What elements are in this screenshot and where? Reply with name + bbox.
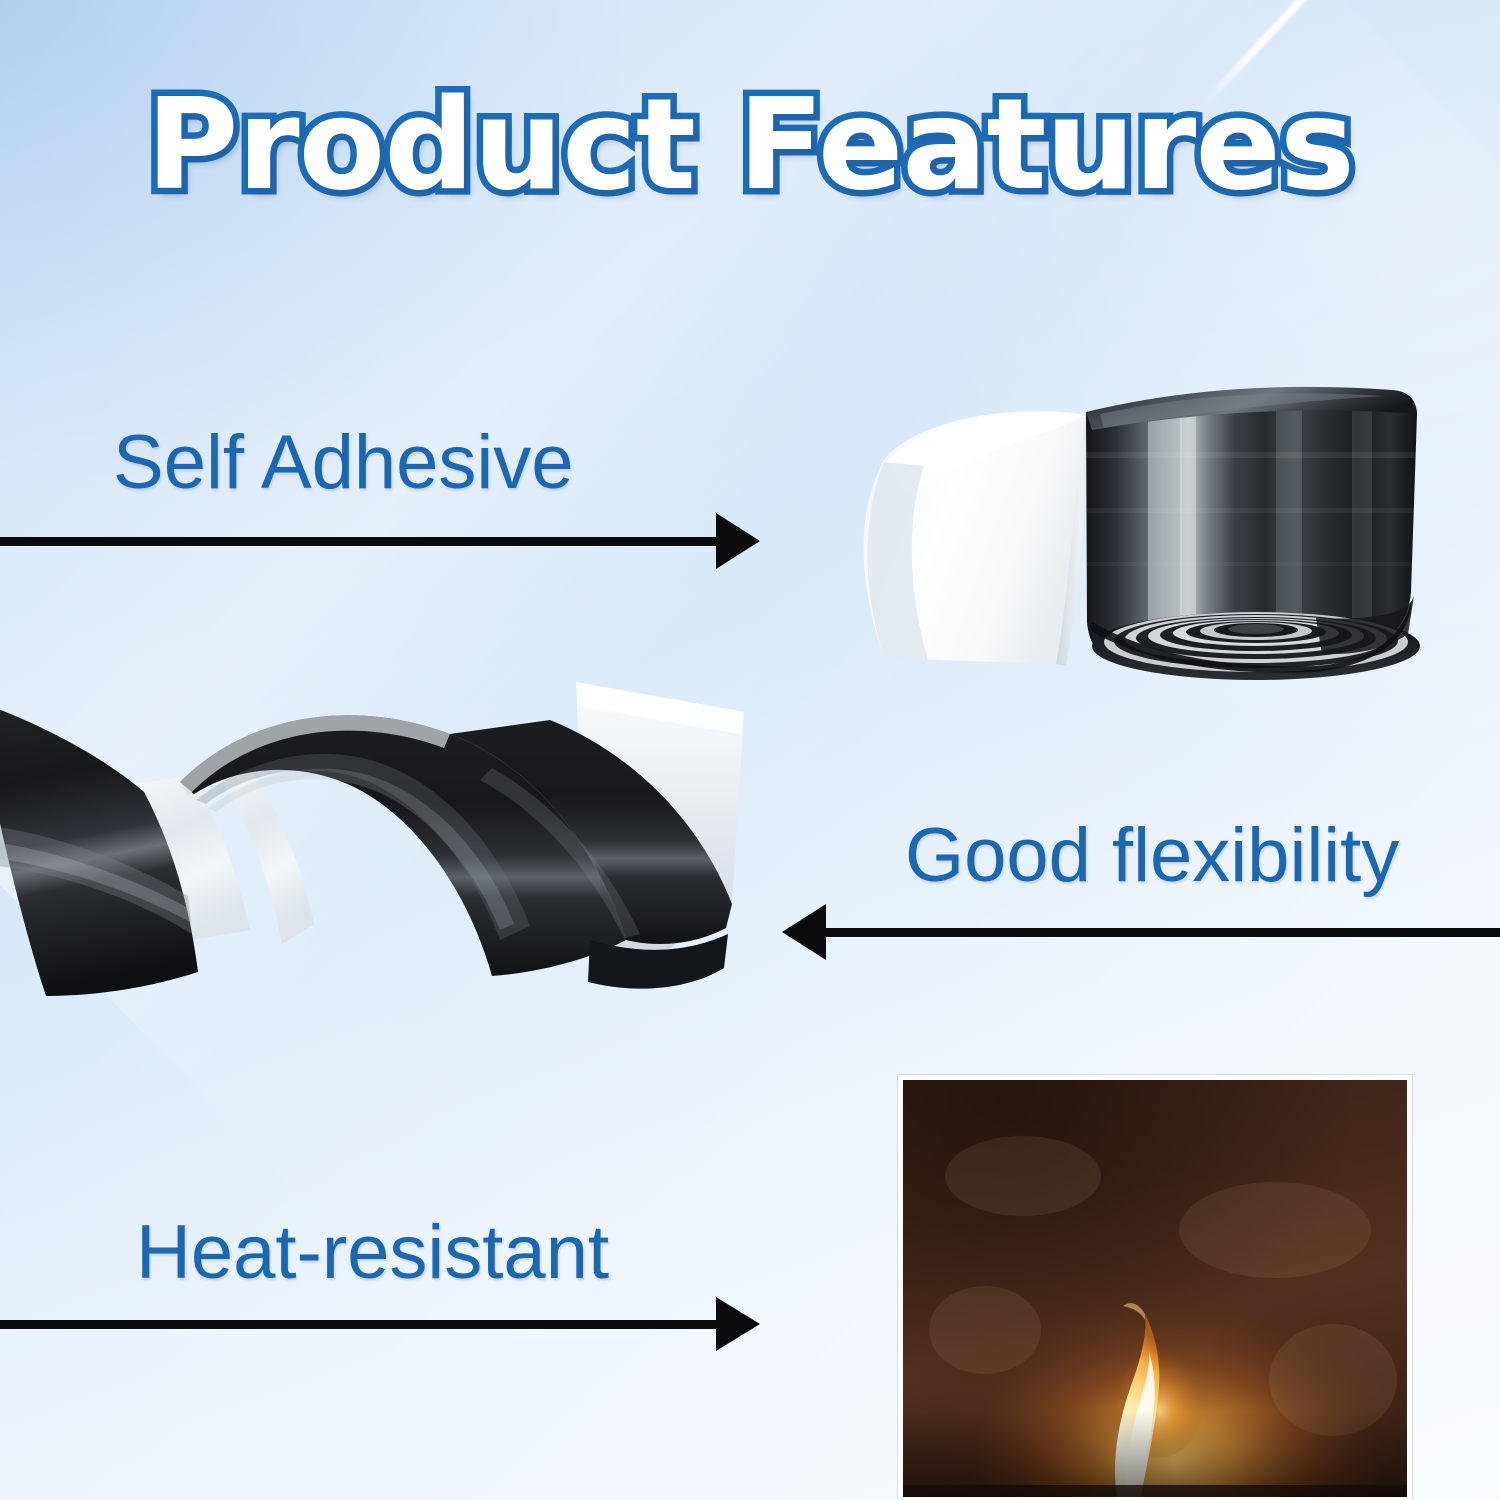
feature-label-good-flexibility: Good flexibility <box>905 818 1399 894</box>
arrow-shaft <box>0 1320 718 1329</box>
arrow-right-icon-self-adhesive <box>0 512 760 570</box>
page-title: Product Features <box>0 82 1500 208</box>
arrow-shaft <box>824 928 1500 937</box>
product-photo-flexible-tape-strip <box>0 672 794 1022</box>
feature-label-heat-resistant: Heat-resistant <box>136 1215 609 1291</box>
product-photo-flame-test <box>898 1075 1412 1500</box>
product-photo-tape-roll <box>756 262 1436 692</box>
arrow-head <box>716 1297 760 1351</box>
feature-label-self-adhesive: Self Adhesive <box>113 425 574 501</box>
arrow-shaft <box>0 537 718 546</box>
product-features-infographic: Product Features Self Adhesive <box>0 0 1500 1500</box>
arrow-left-icon-good-flexibility <box>782 903 1500 961</box>
arrow-right-icon-heat-resistant <box>0 1296 760 1352</box>
arrow-head <box>716 513 760 569</box>
